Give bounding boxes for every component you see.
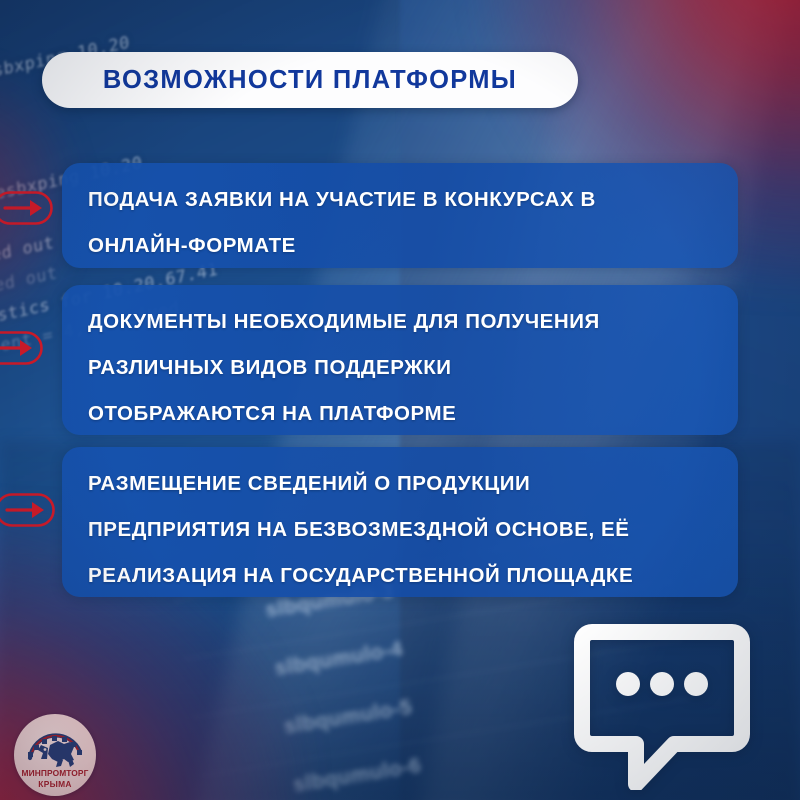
vignette-overlay [0,0,800,800]
poster-canvas: \Users\saylesbxping 10.20 rver: SL1OCS d… [0,0,800,800]
